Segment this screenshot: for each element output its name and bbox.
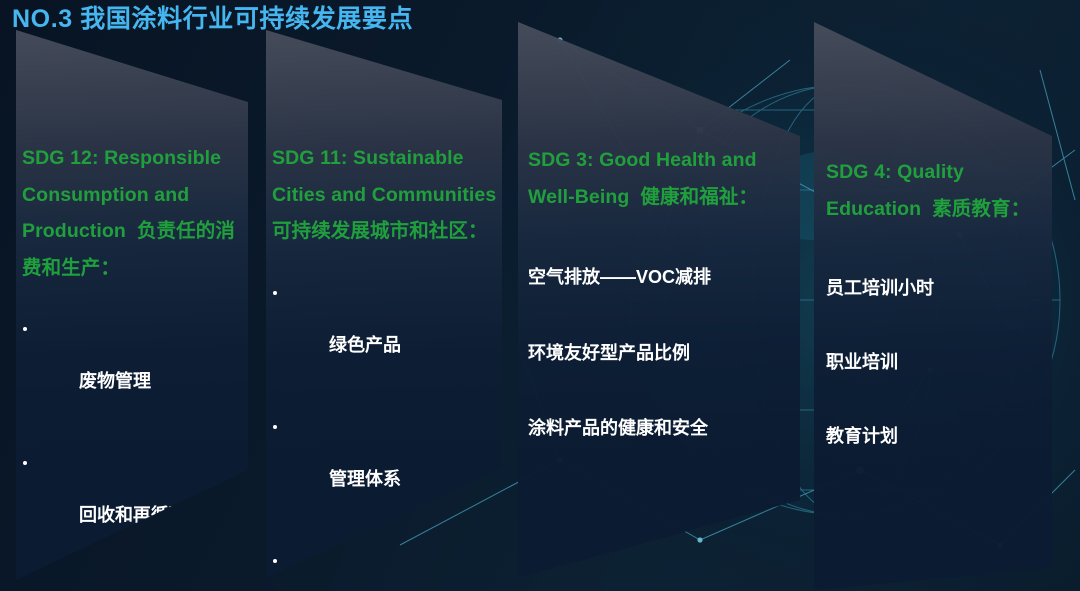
list-item: 教育计划 bbox=[826, 423, 1050, 449]
sdg-heading: SDG 11: Sustainable Cities and Communiti… bbox=[272, 140, 504, 250]
bullet-icon bbox=[23, 461, 27, 465]
bullet-icon bbox=[273, 425, 277, 429]
list-item: 空气排放——VOC减排 bbox=[528, 264, 794, 290]
list-item-text: 废物管理 bbox=[79, 371, 151, 391]
list-item: 涂料产品的健康和安全 bbox=[528, 415, 794, 441]
card-content: SDG 4: Quality Education 素质教育： 员工培训小时 职业… bbox=[826, 154, 1050, 449]
list-item: 职业培训 bbox=[826, 349, 1050, 375]
sdg-heading: SDG 3: Good Health and Well-Being 健康和福祉： bbox=[528, 142, 794, 215]
list-item-text: 绿色产品 bbox=[329, 335, 401, 355]
list-item: 绿色产品 bbox=[272, 280, 504, 384]
list-item: 员工培训小时 bbox=[826, 275, 1050, 301]
slide-title: NO.3 我国涂料行业可持续发展要点 bbox=[12, 3, 413, 35]
bullet-icon bbox=[273, 559, 277, 563]
list-item-text: 管理体系 bbox=[329, 469, 401, 489]
bullet-icon bbox=[23, 327, 27, 331]
bullet-icon bbox=[273, 291, 277, 295]
slide-canvas: NO.3 我国涂料行业可持续发展要点 SDG 12: Responsible C… bbox=[0, 0, 1080, 591]
list-item: 环境友好型产品比例 bbox=[528, 340, 794, 366]
sdg-heading: SDG 4: Quality Education 素质教育： bbox=[826, 154, 1050, 227]
list-item: 废物管理 bbox=[22, 316, 250, 420]
sdg-heading: SDG 12: Responsible Consumption and Prod… bbox=[22, 140, 250, 286]
card-content: SDG 3: Good Health and Well-Being 健康和福祉：… bbox=[528, 142, 794, 441]
